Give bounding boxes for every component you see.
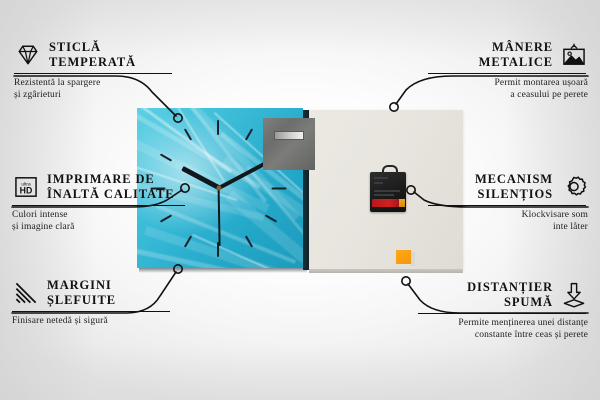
callout-title: MARGINI ȘLEFUITE	[47, 278, 116, 308]
callout-foam-spacer: DISTANȚIER SPUMĂ Permite menținerea unei…	[418, 280, 588, 342]
mechanism-detail	[374, 177, 388, 179]
callout-title-row: DISTANȚIER SPUMĂ	[418, 280, 588, 310]
callout-title-row: MÂNERE METALICE	[428, 40, 588, 70]
callout-title: MECANISM SILENȚIOS	[428, 172, 553, 202]
callout-subtitle: Permite menținerea unei distanțe constan…	[418, 317, 588, 342]
callout-rule	[12, 205, 185, 206]
press-down-arrow-icon	[560, 281, 588, 309]
mechanism-detail	[374, 194, 394, 196]
callout-high-quality-print: ultra HD IMPRIMARE DE ÎNALTĂ CALITATE Cu…	[12, 172, 187, 234]
clock-drop-shadow	[139, 268, 307, 273]
hanging-picture-frame-icon	[560, 41, 588, 69]
diamond-icon	[14, 41, 42, 69]
callout-title-row: MECANISM SILENȚIOS	[428, 172, 588, 202]
clock-tick	[245, 128, 253, 140]
callout-rule	[14, 73, 172, 74]
callout-title: MÂNERE METALICE	[428, 40, 553, 70]
gear-icon	[560, 173, 588, 201]
callout-metal-handles: MÂNERE METALICE Permit montarea ușoară a…	[428, 40, 588, 102]
callout-rule	[428, 205, 586, 206]
callout-rule	[12, 311, 170, 312]
callout-subtitle: Permit montarea ușoară a ceasului pe per…	[428, 77, 588, 102]
mechanism-detail	[374, 182, 383, 184]
hand-center-cap	[217, 186, 222, 191]
callout-subtitle: Finisare netedă și sigură	[12, 315, 172, 328]
second-hand	[218, 188, 221, 246]
metal-hanger-plate	[263, 118, 315, 170]
clock-back-panel-edge	[309, 269, 463, 273]
mechanism-detail	[374, 190, 400, 192]
callout-title: STICLĂ TEMPERATĂ	[49, 40, 136, 70]
callout-title-row: MARGINI ȘLEFUITE	[12, 278, 172, 308]
callout-silent-mechanism: MECANISM SILENȚIOS Klockvisare som inte …	[428, 172, 588, 234]
foam-spacer-side	[411, 252, 415, 266]
callout-subtitle: Rezistentă la spargere și zgârieturi	[14, 77, 174, 102]
callout-title: IMPRIMARE DE ÎNALTĂ CALITATE	[47, 172, 175, 202]
diagonal-lines-icon	[12, 279, 40, 307]
callout-subtitle: Klockvisare som inte låter	[428, 209, 588, 234]
infographic-canvas: STICLĂ TEMPERATĂ Rezistentă la spargere …	[0, 0, 600, 400]
callout-polished-edges: MARGINI ȘLEFUITE Finisare netedă și sigu…	[12, 278, 172, 327]
callout-title-row: STICLĂ TEMPERATĂ	[14, 40, 174, 70]
battery-terminal	[399, 199, 405, 207]
clock-tick	[217, 120, 219, 135]
foam-spacer-piece	[396, 250, 411, 264]
hanger-slot	[274, 131, 304, 140]
callout-title: DISTANȚIER SPUMĂ	[418, 280, 553, 310]
callout-title-row: ultra HD IMPRIMARE DE ÎNALTĂ CALITATE	[12, 172, 187, 202]
callout-subtitle: Culori intense și imagine clară	[12, 209, 187, 234]
callout-rule	[428, 73, 586, 74]
ultra-hd-icon: ultra HD	[12, 173, 40, 201]
callout-rule	[418, 313, 586, 314]
clock-tick	[272, 188, 287, 190]
callout-tempered-glass: STICLĂ TEMPERATĂ Rezistentă la spargere …	[14, 40, 174, 102]
svg-text:HD: HD	[20, 185, 33, 195]
